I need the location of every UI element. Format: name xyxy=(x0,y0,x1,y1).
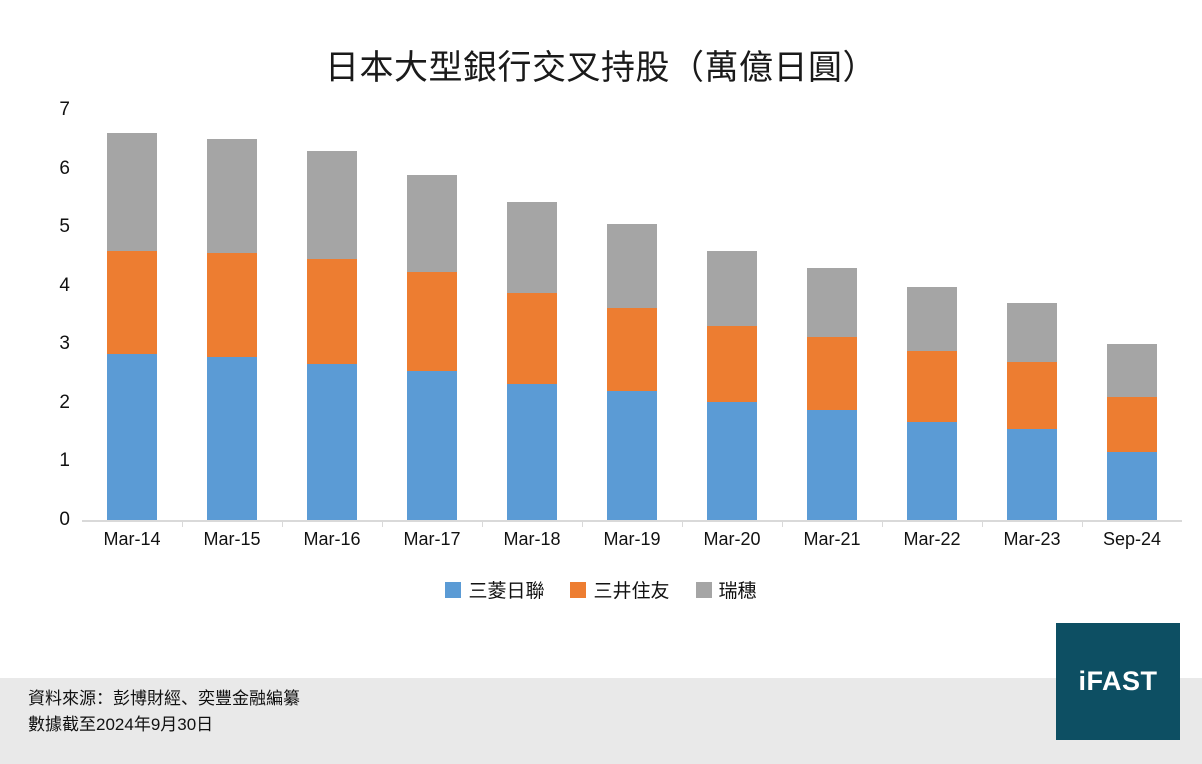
legend-label: 三菱日聯 xyxy=(468,576,544,603)
x-axis-tickmark xyxy=(682,520,683,527)
x-axis-label: Mar-15 xyxy=(203,529,260,550)
legend-swatch-icon xyxy=(445,582,461,598)
footer-text: 資料來源：彭博財經、奕豐金融編纂 數據截至2024年9月30日 xyxy=(28,686,300,738)
bar-segment[interactable] xyxy=(407,175,457,272)
bars-container xyxy=(82,110,1182,520)
x-axis-label: Mar-18 xyxy=(503,529,560,550)
bar-segment[interactable] xyxy=(307,259,357,363)
x-axis-label: Mar-17 xyxy=(403,529,460,550)
bar-group[interactable] xyxy=(107,110,157,520)
bar-stack xyxy=(907,287,957,520)
bar-group[interactable] xyxy=(1007,110,1057,520)
bar-segment[interactable] xyxy=(807,337,857,411)
chart-title: 日本大型銀行交叉持股（萬億日圓） xyxy=(0,40,1202,89)
bar-segment[interactable] xyxy=(107,251,157,354)
bar-segment[interactable] xyxy=(1107,397,1157,452)
bar-segment[interactable] xyxy=(607,308,657,391)
bar-segment[interactable] xyxy=(707,251,757,326)
bar-segment[interactable] xyxy=(707,402,757,520)
bar-segment[interactable] xyxy=(1007,303,1057,362)
bar-segment[interactable] xyxy=(907,422,957,520)
x-axis-label: Mar-23 xyxy=(1003,529,1060,550)
bar-segment[interactable] xyxy=(907,351,957,422)
bar-group[interactable] xyxy=(507,110,557,520)
bar-group[interactable] xyxy=(807,110,857,520)
bar-stack xyxy=(507,202,557,520)
bar-group[interactable] xyxy=(707,110,757,520)
bar-segment[interactable] xyxy=(207,139,257,253)
bar-segment[interactable] xyxy=(707,326,757,402)
bar-stack xyxy=(207,139,257,520)
legend-item[interactable]: 瑞穗 xyxy=(696,576,757,603)
x-axis-tickmark xyxy=(982,520,983,527)
x-axis-label: Mar-16 xyxy=(303,529,360,550)
legend-item[interactable]: 三井住友 xyxy=(570,576,669,603)
y-axis-tick-7: 7 xyxy=(34,99,70,121)
x-axis-tickmark xyxy=(282,520,283,527)
bar-group[interactable] xyxy=(607,110,657,520)
legend-swatch-icon xyxy=(696,582,712,598)
x-axis-tickmark xyxy=(782,520,783,527)
bar-segment[interactable] xyxy=(307,364,357,520)
x-axis-label: Sep-24 xyxy=(1103,529,1161,550)
x-axis-tickmark xyxy=(1082,520,1083,527)
bar-stack xyxy=(107,133,157,520)
y-axis-tick-6: 6 xyxy=(34,158,70,180)
bar-segment[interactable] xyxy=(407,272,457,372)
y-axis-tick-5: 5 xyxy=(34,216,70,238)
bar-segment[interactable] xyxy=(1007,362,1057,429)
footer-asof-line: 數據截至2024年9月30日 xyxy=(28,712,300,738)
y-axis: 01234567 xyxy=(34,110,70,520)
bar-stack xyxy=(1107,344,1157,520)
ifast-logo: iFAST xyxy=(1056,623,1180,740)
bar-segment[interactable] xyxy=(407,371,457,520)
bar-segment[interactable] xyxy=(907,287,957,351)
x-axis-tickmark xyxy=(182,520,183,527)
bar-group[interactable] xyxy=(907,110,957,520)
bar-stack xyxy=(607,224,657,520)
x-axis-label: Mar-22 xyxy=(903,529,960,550)
chart-legend: 三菱日聯三井住友瑞穗 xyxy=(0,576,1202,603)
bar-group[interactable] xyxy=(307,110,357,520)
legend-label: 三井住友 xyxy=(593,576,669,603)
x-axis-label: Mar-21 xyxy=(803,529,860,550)
bar-segment[interactable] xyxy=(1007,429,1057,520)
bar-stack xyxy=(307,151,357,520)
bar-stack xyxy=(707,251,757,520)
x-axis-tickmark xyxy=(382,520,383,527)
bar-segment[interactable] xyxy=(607,224,657,308)
x-axis-labels: Mar-14Mar-15Mar-16Mar-17Mar-18Mar-19Mar-… xyxy=(82,529,1182,555)
ifast-logo-text: iFAST xyxy=(1078,666,1157,697)
bar-segment[interactable] xyxy=(307,151,357,259)
bar-segment[interactable] xyxy=(207,253,257,357)
chart-page: 日本大型銀行交叉持股（萬億日圓） 01234567 Mar-14Mar-15Ma… xyxy=(0,0,1202,764)
bar-segment[interactable] xyxy=(607,391,657,520)
bar-stack xyxy=(407,175,457,520)
x-axis-label: Mar-20 xyxy=(703,529,760,550)
bar-segment[interactable] xyxy=(807,268,857,337)
bar-segment[interactable] xyxy=(507,293,557,384)
plot-area: 01234567 xyxy=(0,110,1202,530)
bar-group[interactable] xyxy=(207,110,257,520)
bar-segment[interactable] xyxy=(107,354,157,520)
y-axis-tick-1: 1 xyxy=(34,450,70,472)
legend-item[interactable]: 三菱日聯 xyxy=(445,576,544,603)
x-axis-tickmark xyxy=(482,520,483,527)
y-axis-tick-3: 3 xyxy=(34,333,70,355)
y-axis-tick-4: 4 xyxy=(34,275,70,297)
x-axis-tickmark xyxy=(582,520,583,527)
footer-source-line: 資料來源：彭博財經、奕豐金融編纂 xyxy=(28,686,300,712)
bar-segment[interactable] xyxy=(507,202,557,293)
x-axis-label: Mar-19 xyxy=(603,529,660,550)
x-axis-line xyxy=(82,520,1182,522)
bar-segment[interactable] xyxy=(507,384,557,520)
x-axis-tickmark xyxy=(882,520,883,527)
bar-stack xyxy=(1007,303,1057,520)
legend-label: 瑞穗 xyxy=(719,576,757,603)
bar-segment[interactable] xyxy=(107,133,157,250)
y-axis-tick-0: 0 xyxy=(34,509,70,531)
legend-swatch-icon xyxy=(570,582,586,598)
bar-stack xyxy=(807,268,857,520)
y-axis-tick-2: 2 xyxy=(34,392,70,414)
bar-segment[interactable] xyxy=(807,410,857,520)
bar-segment[interactable] xyxy=(1107,452,1157,520)
bar-segment[interactable] xyxy=(1107,344,1157,397)
bar-group[interactable] xyxy=(407,110,457,520)
x-axis-label: Mar-14 xyxy=(103,529,160,550)
bar-segment[interactable] xyxy=(207,357,257,520)
bar-group[interactable] xyxy=(1107,110,1157,520)
